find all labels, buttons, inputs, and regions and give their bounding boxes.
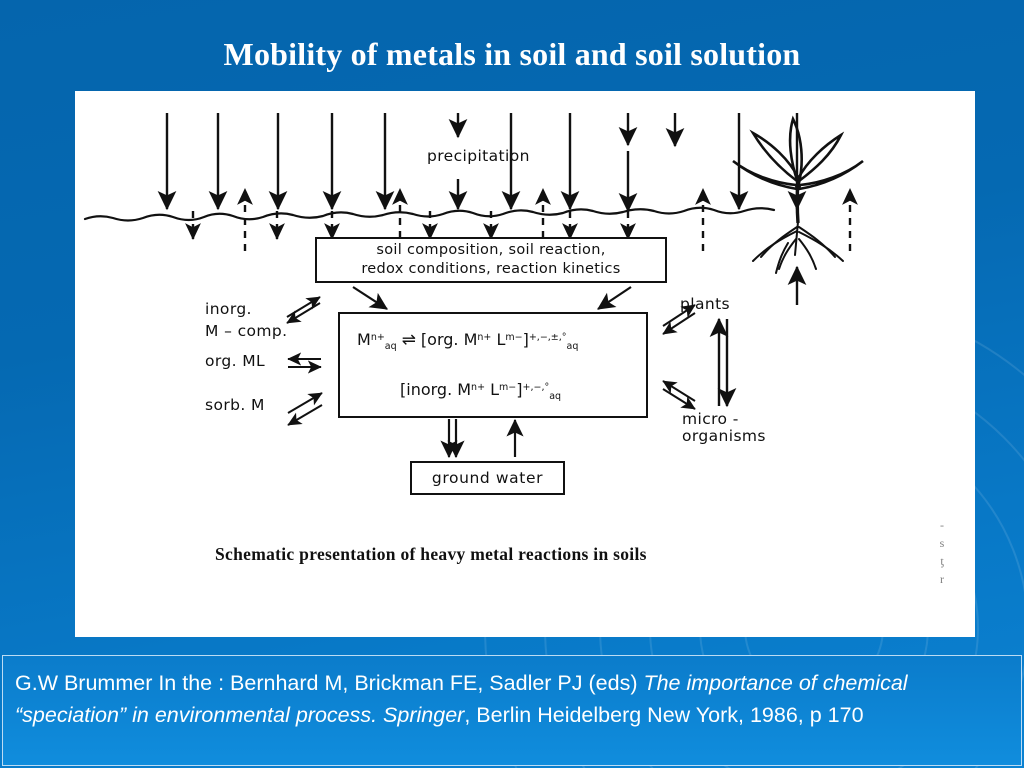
label-micro-line-1: micro - (682, 411, 766, 428)
conditions-to-equations-arrow-right (598, 287, 631, 309)
equation-species: M (357, 330, 371, 349)
label-sorbed-m: sorb. M (205, 396, 265, 414)
equation-close-sub: aq (567, 341, 579, 352)
ground-water-box: ground water (410, 461, 565, 495)
scan-mark-2: s (932, 534, 952, 552)
scan-mark-1: - (932, 516, 952, 534)
downward-flux-arrows (193, 211, 628, 239)
speciation-equations-box: Mn+aq⇌[org. Mn+ Lm−]+,−,±,°aq [inorg. Mn… (338, 312, 648, 418)
equation-line-1: Mn+aq⇌[org. Mn+ Lm−]+,−,±,°aq (357, 330, 578, 350)
equation-line-2: [inorg. Mn+ Lm−]+,−,°aq (400, 380, 561, 399)
page-title: Mobility of metals in soil and soil solu… (0, 36, 1024, 73)
equation2-close-sub: aq (549, 391, 561, 402)
citation-text: G.W Brummer In the : Bernhard M, Brickma… (15, 667, 1009, 731)
label-inorganic-m-compounds: inorg. M – comp. (205, 298, 287, 342)
figure-caption: Schematic presentation of heavy metal re… (215, 544, 647, 565)
figure-inner: precipitation soil composition, soil rea… (75, 91, 975, 637)
equation2-complex-open: [inorg. M (400, 380, 471, 399)
equation-complex-metal-sup: n+ (477, 332, 491, 343)
conditions-line-2: redox conditions, reaction kinetics (361, 260, 620, 279)
figure-panel: precipitation soil composition, soil rea… (75, 91, 975, 637)
conditions-line-1: soil composition, soil reaction, (361, 241, 620, 260)
plant-leaf-right-upper (798, 135, 841, 181)
citation-box: G.W Brummer In the : Bernhard M, Brickma… (2, 655, 1022, 766)
equation2-ligand: L (490, 380, 499, 399)
label-inorganic-line-1: inorg. (205, 298, 287, 320)
equilibrium-arrow-glyph: ⇌ (397, 330, 421, 350)
citation-part-2: , Berlin Heidelberg New York, 1986, p 17… (464, 703, 863, 727)
label-micro-line-2: organisms (682, 428, 766, 445)
scan-artifact-marks: - s ƫ r (932, 516, 952, 588)
label-plants: plants (680, 295, 730, 313)
equation-ligand-sup: m− (505, 332, 522, 343)
scan-mark-4: r (932, 570, 952, 588)
equation-species-sup: n+ (371, 332, 385, 343)
plants-microorganisms-arrow (719, 319, 727, 406)
equation2-ligand-sup: m− (499, 382, 516, 393)
equation-complex-open: [org. M (421, 330, 477, 349)
scan-mark-3: ƫ (932, 552, 952, 570)
right-equilibrium-arrows (663, 305, 695, 409)
equation-species-sub: aq (385, 341, 397, 352)
citation-part-1: G.W Brummer In the : Bernhard M, Brickma… (15, 671, 643, 695)
equation-charges-sup: +,−,±,° (529, 332, 567, 343)
left-equilibrium-arrows (287, 297, 322, 425)
label-inorganic-line-2: M – comp. (205, 320, 287, 342)
plant-roots (753, 222, 843, 273)
label-micro-organisms: micro - organisms (682, 411, 766, 445)
label-organic-ml: org. ML (205, 352, 265, 370)
equation2-complex-metal-sup: n+ (471, 382, 485, 393)
equations-to-groundwater-arrow (449, 419, 456, 457)
soil-conditions-box: soil composition, soil reaction, redox c… (315, 237, 667, 283)
equation2-charges-sup: +,−,° (523, 382, 550, 393)
conditions-to-equations-arrow-left (353, 287, 387, 309)
precipitation-label: precipitation (427, 147, 530, 165)
